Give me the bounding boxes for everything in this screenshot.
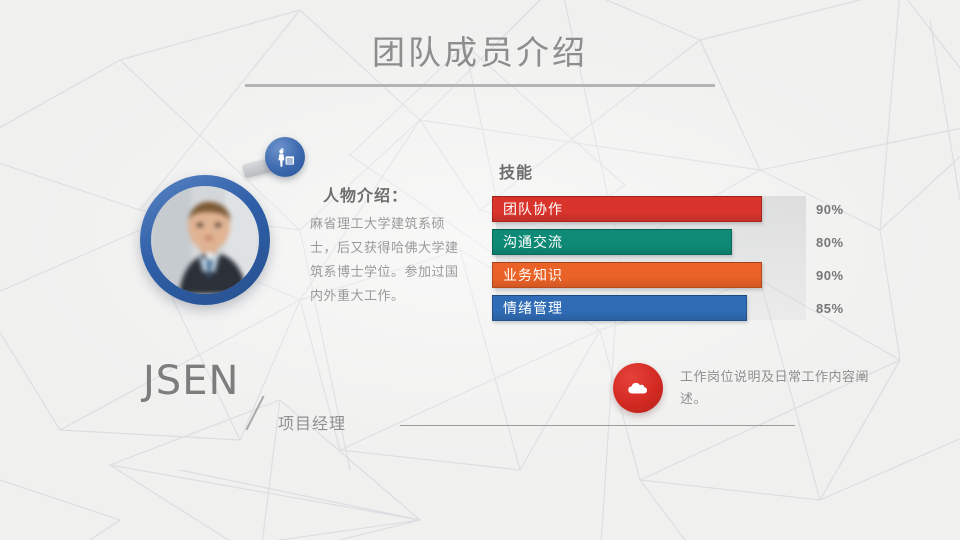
duty-divider (400, 425, 795, 426)
skill-bar: 沟通交流 (492, 229, 732, 255)
presenter-icon (265, 137, 305, 177)
person-name: JSEN (143, 358, 239, 404)
intro-heading: 人物介绍： (323, 182, 408, 206)
skill-bar: 业务知识 (492, 262, 762, 288)
page-title: 团队成员介绍 (0, 26, 960, 74)
skill-bar: 团队协作 (492, 196, 762, 222)
skill-bar: 情绪管理 (492, 295, 747, 321)
skill-percent-label: 90% (816, 202, 844, 217)
skill-percent-label: 85% (816, 301, 844, 316)
skill-row: 情绪管理 (492, 295, 792, 321)
skill-percent-label: 90% (816, 268, 844, 283)
title-divider (245, 84, 715, 87)
skill-percent-label: 80% (816, 235, 844, 250)
cloud-icon (613, 363, 663, 413)
avatar-photo (151, 186, 259, 294)
skill-row: 沟通交流 (492, 229, 792, 255)
skills-heading: 技能 (499, 159, 533, 183)
name-slash-divider (245, 396, 264, 431)
skill-row: 团队协作 (492, 196, 792, 222)
slide-canvas: 团队成员介绍 (0, 0, 960, 540)
duty-description: 工作岗位说明及日常工作内容阐述。 (680, 366, 870, 410)
intro-body: 麻省理工大学建筑系硕士，后又获得哈佛大学建筑系博士学位。参加过国内外重大工作。 (310, 212, 470, 308)
avatar (140, 175, 270, 305)
person-role: 项目经理 (278, 410, 346, 434)
skill-row: 业务知识 (492, 262, 792, 288)
